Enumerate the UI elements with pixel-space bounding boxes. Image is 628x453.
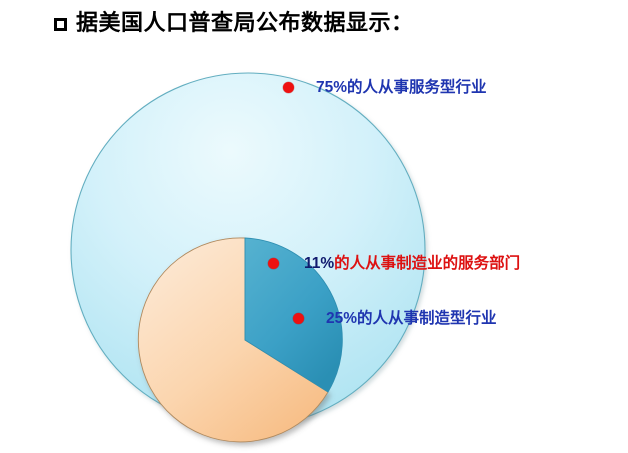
slide-canvas: 据美国人口普查局公布数据显示： xyxy=(0,0,628,453)
red-dot-icon xyxy=(293,313,304,324)
chart-graphic xyxy=(0,0,628,453)
legend-item-manufacturing-service-dept[interactable]: 11%的人从事制造业的服务部门 xyxy=(268,256,520,272)
legend-item-manufacturing-label: 25%的人从事制造型行业 xyxy=(326,311,497,327)
legend-segment: 75%的人从事服务型行业 xyxy=(316,79,487,96)
red-dot-icon xyxy=(268,258,279,269)
legend-item-services-label: 75%的人从事服务型行业 xyxy=(316,80,487,96)
legend-segment: 25%的人从事制造型行业 xyxy=(326,310,497,327)
legend-segment-percent: 11% xyxy=(304,255,334,272)
red-dot-icon xyxy=(283,82,294,93)
legend-segment-body: 的人从事制造业的服务部门 xyxy=(334,255,520,272)
legend-item-manufacturing[interactable]: 25%的人从事制造型行业 xyxy=(293,311,497,327)
legend-item-manufacturing-service-dept-label: 11%的人从事制造业的服务部门 xyxy=(304,256,520,272)
legend-item-services[interactable]: 75%的人从事服务型行业 xyxy=(283,80,487,96)
